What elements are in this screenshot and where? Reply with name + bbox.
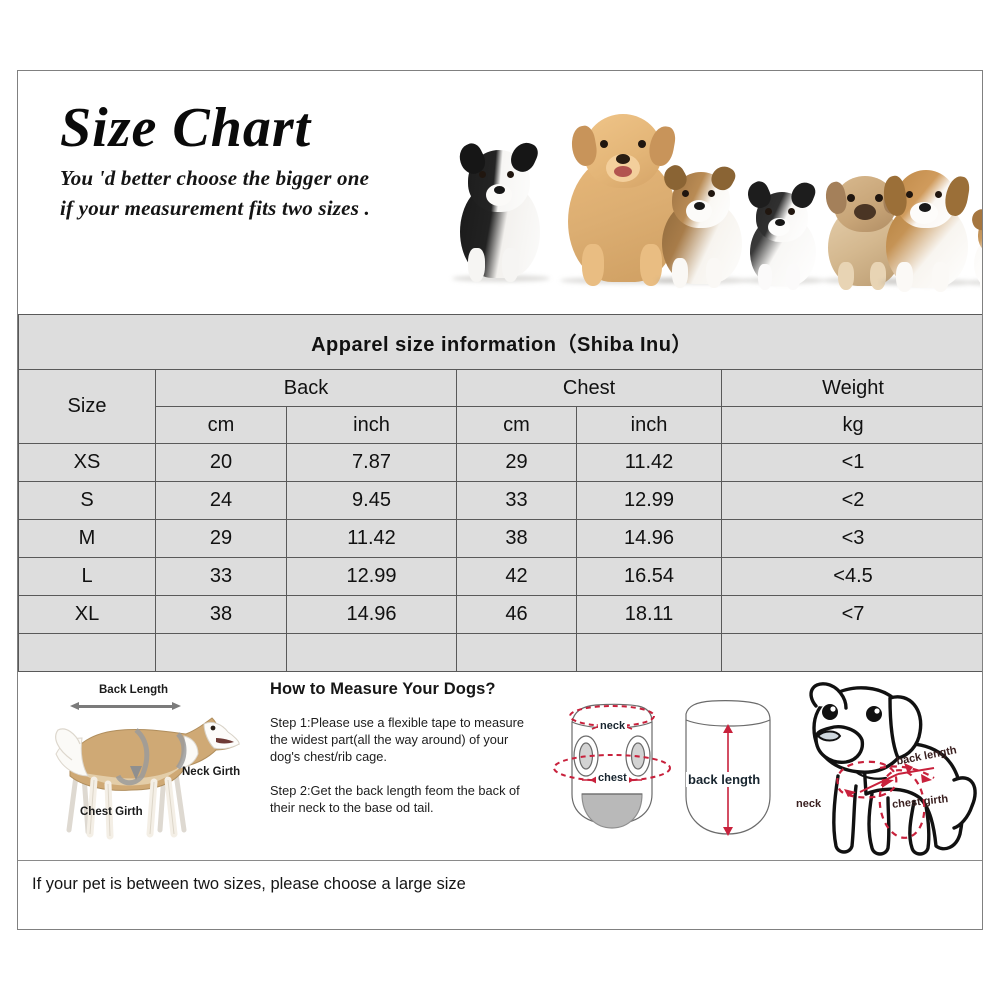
- cell-chest-cm: 29: [457, 444, 577, 482]
- header-chest-cm: cm: [457, 407, 577, 444]
- back-length-arrow-left: [70, 702, 79, 710]
- table-unit-header-row: cm inch cm inch kg: [19, 407, 984, 444]
- size-chart-frame: Size Chart You 'd better choose the bigg…: [17, 70, 983, 930]
- garment-label-chest: chest: [596, 772, 629, 784]
- cell-chest-inch: 16.54: [577, 558, 722, 596]
- how-to-measure-title: How to Measure Your Dogs?: [270, 680, 538, 699]
- header-size: Size: [19, 370, 156, 444]
- pets-photo-strip: [418, 71, 982, 314]
- hero-text-block: Size Chart You 'd better choose the bigg…: [60, 99, 370, 221]
- cartoon-dog-diagram: neck back length chest girth: [794, 676, 983, 858]
- cell-chest-cm: [457, 634, 577, 672]
- pet-puppy: [966, 204, 982, 300]
- header-weight: Weight: [722, 370, 984, 407]
- cell-weight-kg: <2: [722, 482, 984, 520]
- cell-chest-cm: 46: [457, 596, 577, 634]
- cell-chest-cm: 33: [457, 482, 577, 520]
- how-to-step-2: Step 2:Get the back length feom the back…: [270, 782, 538, 816]
- measurement-guide-panel: Back Length Neck Girth Chest Girth How t…: [18, 672, 982, 908]
- header-back: Back: [156, 370, 457, 407]
- back-length-arrow-line: [78, 705, 172, 708]
- cell-chest-cm: 42: [457, 558, 577, 596]
- table-caption-row: Apparel size information（Shiba Inu）: [19, 315, 984, 370]
- table-row: XS 20 7.87 29 11.42 <1: [19, 444, 984, 482]
- garment-label-neck: neck: [598, 720, 627, 732]
- table-row: S 24 9.45 33 12.99 <2: [19, 482, 984, 520]
- hero-subtitle-line2: if your measurement fits two sizes .: [60, 196, 370, 221]
- cell-chest-inch: 18.11: [577, 596, 722, 634]
- footnote-text: If your pet is between two sizes, please…: [18, 875, 466, 894]
- label-back-length: Back Length: [99, 684, 168, 696]
- cell-back-cm: 29: [156, 520, 287, 558]
- label-neck-girth: Neck Girth: [182, 766, 240, 778]
- table-row: M 29 11.42 38 14.96 <3: [19, 520, 984, 558]
- hero-subtitle-line1: You 'd better choose the bigger one: [60, 166, 370, 191]
- table-row-empty: [19, 634, 984, 672]
- garment-diagrams: neck chest back length: [534, 676, 794, 856]
- cell-weight-kg: <1: [722, 444, 984, 482]
- cell-chest-inch: [577, 634, 722, 672]
- cell-back-cm: 20: [156, 444, 287, 482]
- back-length-arrow-right: [172, 702, 181, 710]
- cell-back-inch: 9.45: [287, 482, 457, 520]
- header-weight-kg: kg: [722, 407, 984, 444]
- cell-size: M: [19, 520, 156, 558]
- garment-label-back-length: back length: [686, 772, 762, 787]
- page-title: Size Chart: [60, 99, 370, 158]
- cell-chest-inch: 14.96: [577, 520, 722, 558]
- cell-weight-kg: <3: [722, 520, 984, 558]
- cell-size: L: [19, 558, 156, 596]
- cell-back-inch: 14.96: [287, 596, 457, 634]
- cartoon-puppy-icon: [794, 676, 983, 858]
- cell-chest-inch: 11.42: [577, 444, 722, 482]
- cell-chest-cm: 38: [457, 520, 577, 558]
- table-row: L 33 12.99 42 16.54 <4.5: [19, 558, 984, 596]
- cartoon-label-neck: neck: [796, 798, 821, 810]
- cell-weight-kg: [722, 634, 984, 672]
- apparel-size-table: Apparel size information（Shiba Inu） Size…: [18, 314, 983, 672]
- garment-front-and-back-icon: [534, 676, 794, 856]
- cell-weight-kg: <4.5: [722, 558, 984, 596]
- table-row: XL 38 14.96 46 18.11 <7: [19, 596, 984, 634]
- header-chest-inch: inch: [577, 407, 722, 444]
- dog-measurement-illustration: Back Length Neck Girth Chest Girth: [36, 680, 251, 850]
- cell-back-inch: [287, 634, 457, 672]
- cell-back-cm: 33: [156, 558, 287, 596]
- cell-back-cm: 38: [156, 596, 287, 634]
- pet-beagle: [874, 158, 980, 300]
- cell-back-cm: [156, 634, 287, 672]
- cell-back-inch: 11.42: [287, 520, 457, 558]
- cell-size: S: [19, 482, 156, 520]
- cell-back-inch: 7.87: [287, 444, 457, 482]
- pet-border-collie: [446, 134, 556, 296]
- label-chest-girth: Chest Girth: [80, 806, 143, 818]
- header-back-inch: inch: [287, 407, 457, 444]
- how-to-measure-block: How to Measure Your Dogs? Step 1:Please …: [270, 680, 538, 816]
- hero-banner: Size Chart You 'd better choose the bigg…: [18, 71, 982, 314]
- footnote-bar: If your pet is between two sizes, please…: [18, 860, 982, 908]
- cell-weight-kg: <7: [722, 596, 984, 634]
- header-back-cm: cm: [156, 407, 287, 444]
- header-chest: Chest: [457, 370, 722, 407]
- cell-back-inch: 12.99: [287, 558, 457, 596]
- cell-size: XS: [19, 444, 156, 482]
- how-to-step-1: Step 1:Please use a flexible tape to mea…: [270, 714, 538, 765]
- cell-size: XL: [19, 596, 156, 634]
- cell-chest-inch: 12.99: [577, 482, 722, 520]
- cell-size: [19, 634, 156, 672]
- cell-back-cm: 24: [156, 482, 287, 520]
- table-group-header-row: Size Back Chest Weight: [19, 370, 984, 407]
- table-caption: Apparel size information（Shiba Inu）: [19, 315, 984, 370]
